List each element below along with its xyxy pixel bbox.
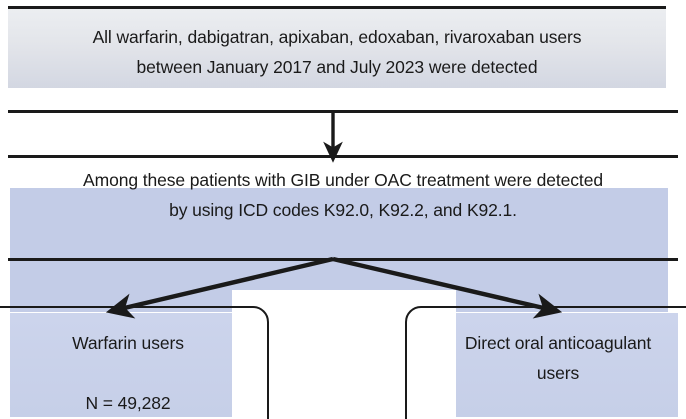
flowchart-diagram: All warfarin, dabigatran, apixaban, edox… (0, 0, 686, 419)
step-1-label: All warfarin, dabigatran, apixaban, edox… (8, 22, 666, 82)
divider-line-branch-top (8, 258, 678, 261)
step-1-top-border (8, 6, 666, 9)
step-2-label: Among these patients with GIB under OAC … (8, 165, 678, 225)
branch-doac-label: Direct oral anticoagulant users (430, 328, 686, 388)
branch-warfarin-label: Warfarin users N = 49,282 (8, 328, 248, 418)
divider-line-lower (8, 155, 678, 158)
divider-line-upper (8, 110, 678, 113)
